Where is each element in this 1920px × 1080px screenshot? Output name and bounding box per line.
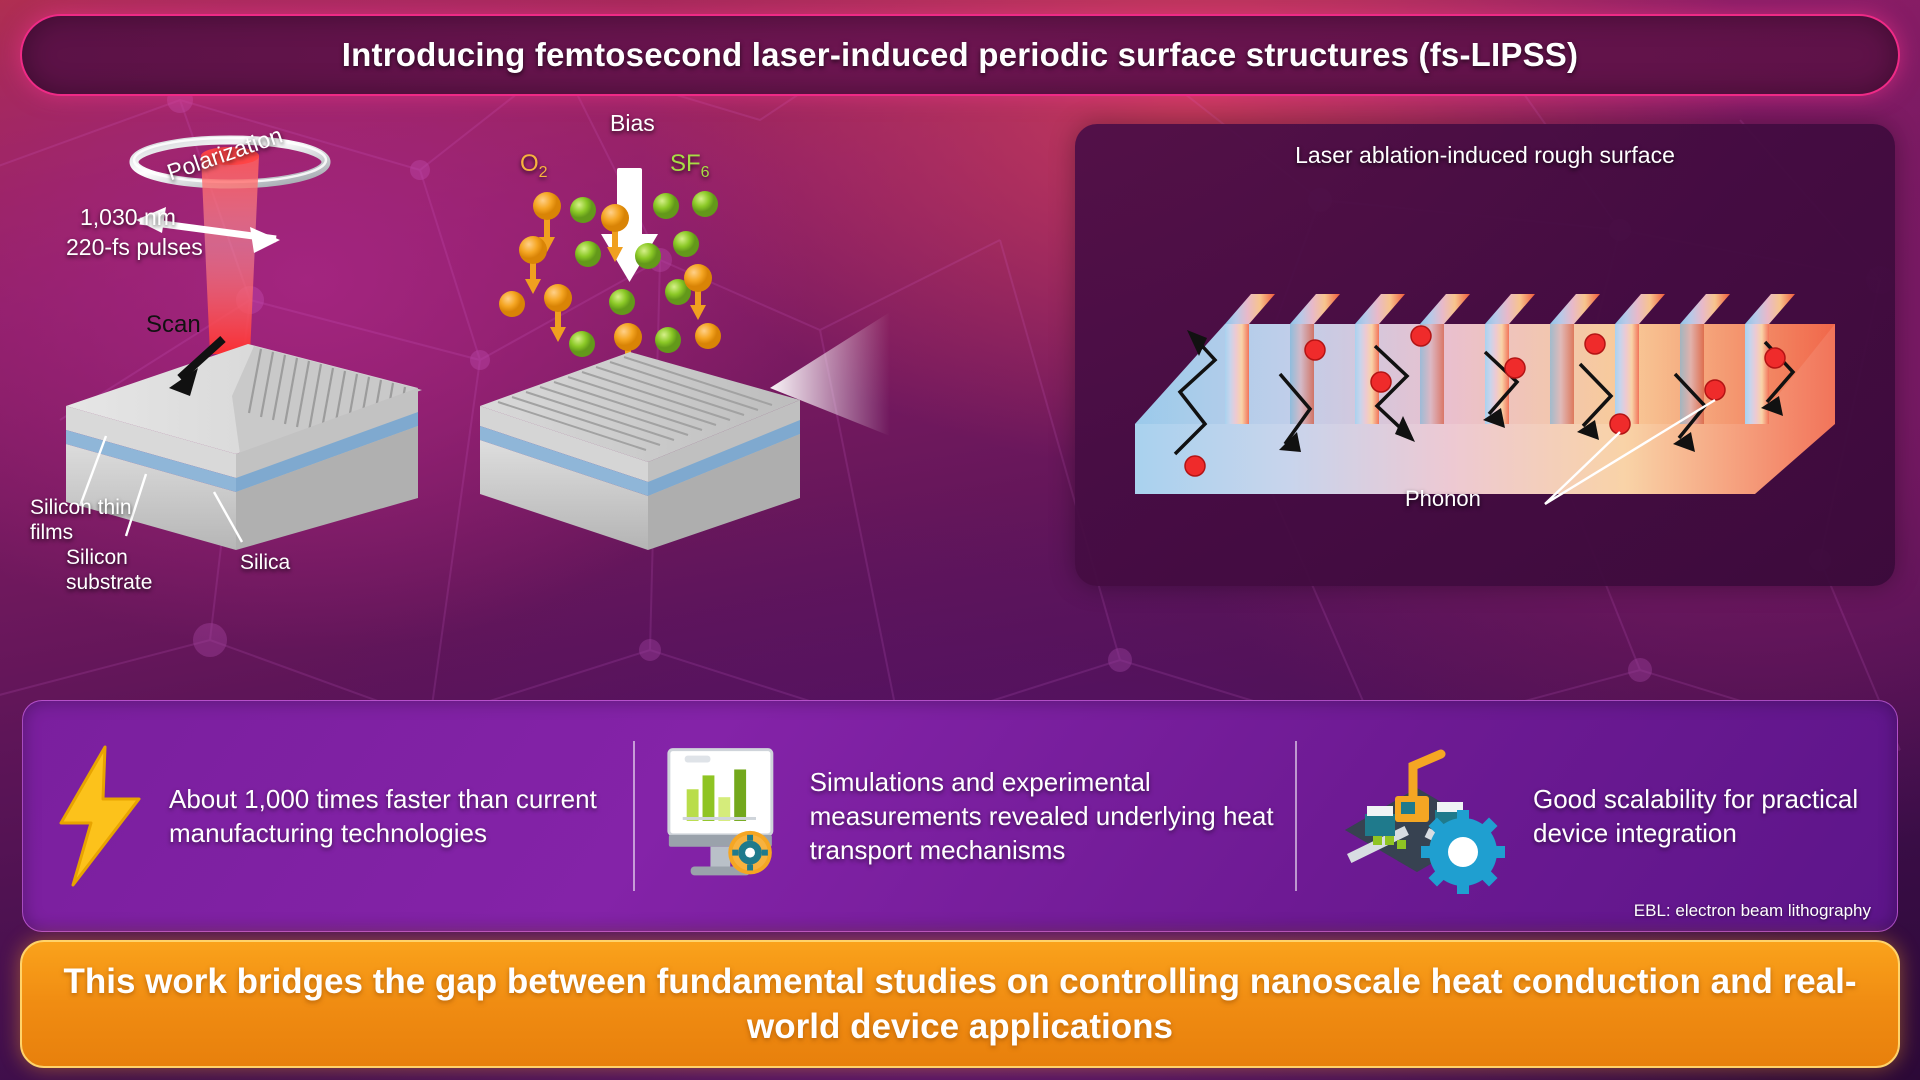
factory-gear-icon (1317, 736, 1517, 896)
gear-shape (1421, 810, 1505, 894)
page-title: Introducing femtosecond laser-induced pe… (342, 36, 1578, 74)
conclusion-banner: This work bridges the gap between fundam… (20, 940, 1900, 1068)
feature-scalability: Good scalability for practical device in… (1297, 701, 1897, 931)
label-sf6: SF6 (670, 150, 710, 182)
label-silica: Silica (240, 551, 290, 575)
phonon-scattering-illustration (1075, 124, 1895, 586)
panel-laser-diagram: Polarization 1,030 nm 220-fs pulses Scan… (18, 106, 458, 606)
label-silicon-substrate: Silicon substrate (66, 546, 186, 596)
feature-speed: About 1,000 times faster than current ma… (23, 701, 633, 931)
label-wavelength: 1,030 nm (80, 204, 176, 231)
label-bias: Bias (610, 110, 655, 137)
feature-scalability-text: Good scalability for practical device in… (1533, 782, 1863, 851)
label-silicon-thin-films: Silicon thin films (30, 496, 140, 546)
label-phonon: Phonon (1405, 486, 1481, 512)
panel-etching-diagram: Bias O2 SF6 (470, 106, 890, 606)
label-o2: O2 (520, 150, 548, 182)
feature-speed-text: About 1,000 times faster than current ma… (169, 782, 599, 851)
feature-simulation: Simulations and experimental measurement… (635, 701, 1295, 931)
lightning-bolt-icon (43, 741, 153, 891)
features-bar: About 1,000 times faster than current ma… (22, 700, 1898, 932)
panel-phonon-diagram: Laser ablation-induced rough surface (1075, 124, 1895, 586)
etched-silicon-slab (480, 352, 800, 550)
feature-simulation-text: Simulations and experimental measurement… (810, 765, 1275, 868)
title-banner: Introducing femtosecond laser-induced pe… (20, 14, 1900, 96)
label-pulse-duration: 220-fs pulses (66, 234, 203, 261)
monitor-chart-icon (655, 741, 794, 891)
panels-row: Polarization 1,030 nm 220-fs pulses Scan… (0, 106, 1920, 686)
gas-particles (499, 191, 721, 382)
infographic-root: Introducing femtosecond laser-induced pe… (0, 0, 1920, 1080)
ebl-note: EBL: electron beam lithography (1634, 901, 1871, 921)
label-scan: Scan (146, 311, 201, 339)
conclusion-text: This work bridges the gap between fundam… (22, 959, 1898, 1050)
